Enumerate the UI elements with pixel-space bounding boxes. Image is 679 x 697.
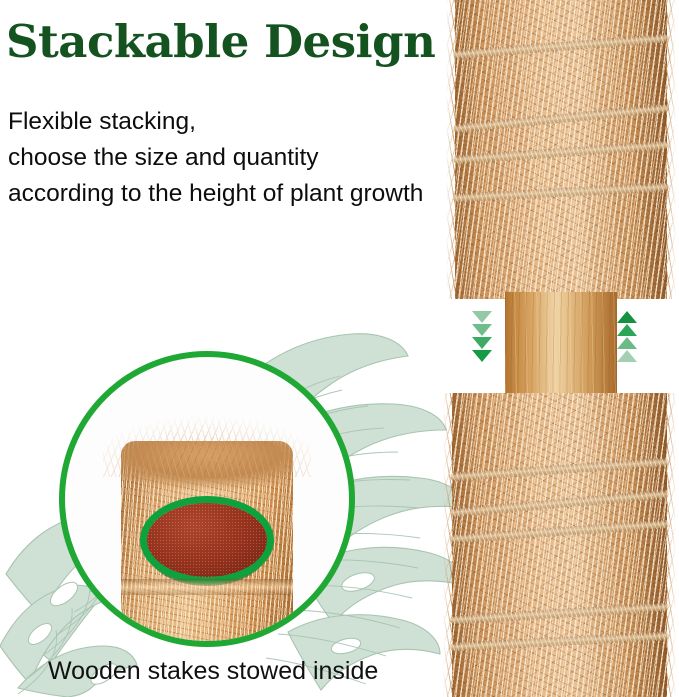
detail-closeup-circle xyxy=(59,351,355,647)
twine-wrap xyxy=(453,140,669,164)
twine-wrap xyxy=(450,489,669,517)
page-title: Stackable Design xyxy=(6,14,436,70)
arrow-down-icon xyxy=(472,324,492,336)
arrow-down-icon xyxy=(472,337,492,349)
arrow-up-icon xyxy=(617,324,637,336)
arrow-down-icon xyxy=(472,311,492,323)
detail-photo xyxy=(65,357,349,641)
product-infographic: Stackable Design Flexible stacking, choo… xyxy=(0,0,679,697)
coir-pole-lower-section xyxy=(452,393,667,697)
stack-up-arrows xyxy=(617,311,637,362)
twine-wrap xyxy=(453,104,669,134)
red-end-cap xyxy=(147,503,267,577)
arrow-down-icon xyxy=(472,350,492,362)
description-text: Flexible stacking, choose the size and q… xyxy=(8,104,448,212)
arrow-up-icon xyxy=(617,337,637,349)
twine-wrap xyxy=(453,34,669,60)
description-line-2: choose the size and quantity xyxy=(8,140,448,176)
twine-wrap xyxy=(450,519,669,543)
stack-down-arrows xyxy=(472,311,492,362)
description-line-1: Flexible stacking, xyxy=(8,104,448,140)
arrow-up-icon xyxy=(617,311,637,323)
arrow-up-icon xyxy=(617,350,637,362)
description-line-3: according to the height of plant growth xyxy=(8,176,448,212)
coir-pole-upper-section xyxy=(455,0,667,299)
caption-text: Wooden stakes stowed inside xyxy=(48,655,448,687)
twine-wrap xyxy=(453,182,669,202)
twine-wrap xyxy=(450,602,669,624)
twine-wrap xyxy=(450,457,669,481)
wooden-stake-connector xyxy=(505,292,617,398)
coir-pole-closeup xyxy=(121,441,293,641)
twine-wrap xyxy=(450,631,669,651)
